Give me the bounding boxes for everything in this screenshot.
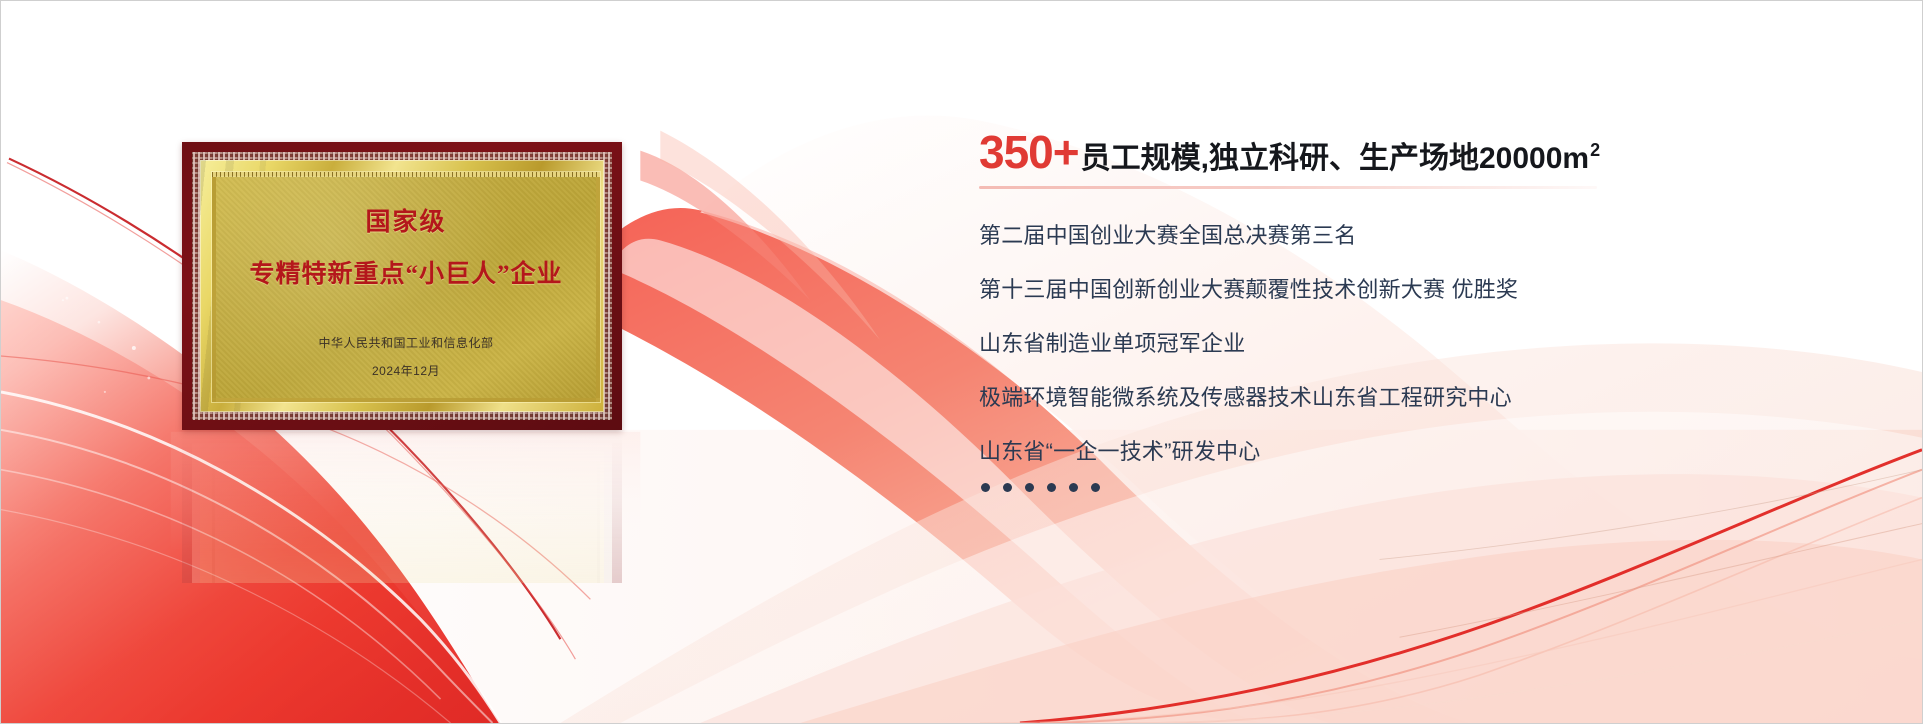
award-banner: 国家级 专精特新重点“小巨人”企业 中华人民共和国工业和信息化部 2024年12… xyxy=(0,0,1923,724)
list-item: 第十三届中国创新创业大赛颠覆性技术创新大赛 优胜奖 xyxy=(979,279,1879,301)
headline: 350+ 员工规模,独立科研、生产场地20000m 2 xyxy=(979,129,1879,175)
list-item: 第二届中国创业大赛全国总决赛第三名 xyxy=(979,225,1879,247)
text-column: 350+ 员工规模,独立科研、生产场地20000m 2 第二届中国创业大赛全国总… xyxy=(979,129,1879,492)
headline-text: 员工规模,独立科研、生产场地20000m xyxy=(1081,144,1589,174)
ellipsis-dot xyxy=(1025,483,1034,492)
headline-divider xyxy=(979,186,1597,189)
ellipsis-dot xyxy=(1091,483,1100,492)
ellipsis-dot xyxy=(981,483,990,492)
ellipsis-dot xyxy=(1047,483,1056,492)
plaque-title: 国家级 xyxy=(365,202,446,238)
headline-number: 350+ xyxy=(979,129,1079,175)
plaque-subtitle: 专精特新重点“小巨人”企业 xyxy=(249,254,562,290)
ellipsis-dot xyxy=(1069,483,1078,492)
award-plaque: 国家级 专精特新重点“小巨人”企业 中华人民共和国工业和信息化部 2024年12… xyxy=(182,142,622,430)
plaque-text-block: 国家级 专精特新重点“小巨人”企业 中华人民共和国工业和信息化部 2024年12… xyxy=(212,172,600,402)
list-item: 极端环境智能微系统及传感器技术山东省工程研究中心 xyxy=(979,387,1879,409)
ellipsis-indicator xyxy=(979,483,1879,492)
plaque-frame: 国家级 专精特新重点“小巨人”企业 中华人民共和国工业和信息化部 2024年12… xyxy=(182,142,622,430)
list-item: 山东省“一企一技术”研发中心 xyxy=(979,441,1879,463)
plaque-date: 2024年12月 xyxy=(372,362,440,379)
award-list: 第二届中国创业大赛全国总决赛第三名 第十三届中国创新创业大赛颠覆性技术创新大赛 … xyxy=(979,225,1879,463)
ellipsis-dot xyxy=(1003,483,1012,492)
plaque-reflection xyxy=(182,433,622,583)
list-item: 山东省制造业单项冠军企业 xyxy=(979,333,1879,355)
plaque-issuer: 中华人民共和国工业和信息化部 xyxy=(318,334,493,351)
headline-superscript: 2 xyxy=(1590,141,1600,159)
